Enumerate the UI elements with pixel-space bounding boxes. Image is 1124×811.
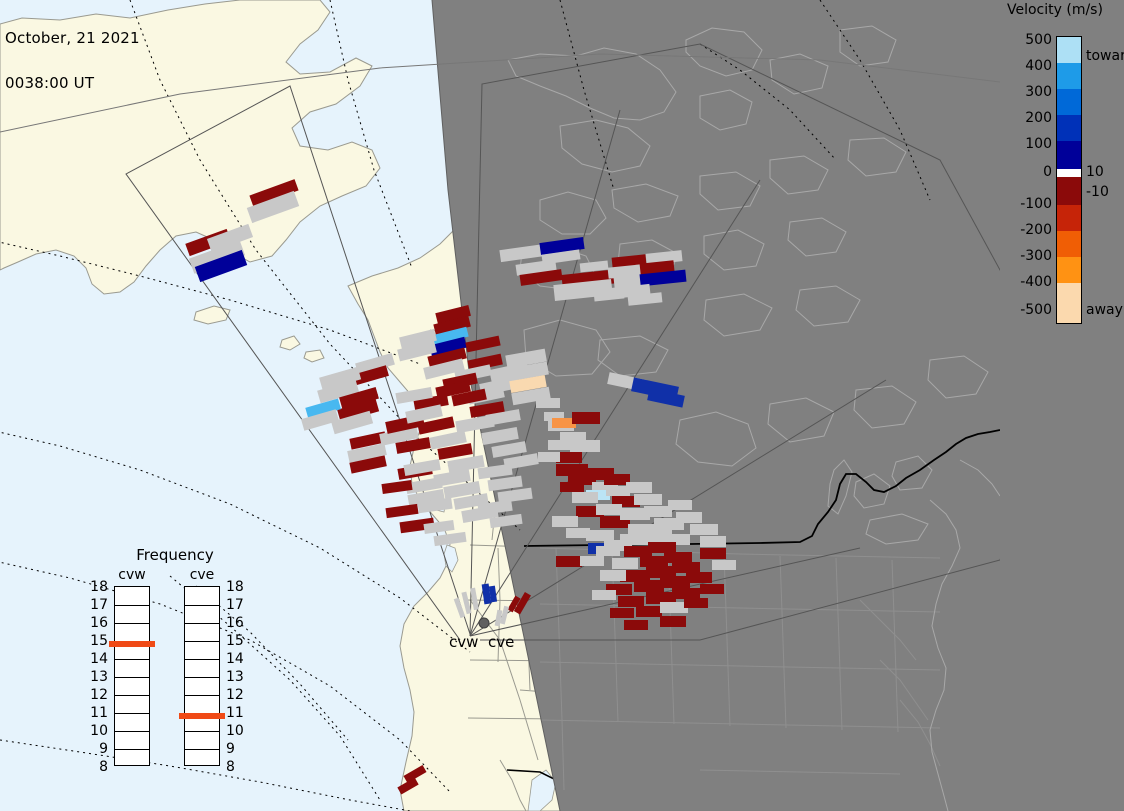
data-cell[interactable] (686, 572, 712, 583)
gauge-tick-cvw-9: 9 (84, 741, 108, 757)
timestamp: October, 21 2021 0038:00 UT (5, 1, 140, 121)
colorbar-tick-100: 100 (1025, 136, 1052, 152)
colorbar-segment-m400[interactable] (1057, 257, 1081, 283)
data-cell[interactable] (626, 482, 652, 493)
data-cell[interactable] (690, 524, 718, 535)
gauge-label-cvw: cvw (110, 567, 154, 583)
colorbar-tick-m400: -400 (1020, 274, 1052, 290)
data-cell[interactable] (572, 492, 598, 503)
gauge-tick-cve-13: 13 (226, 669, 250, 685)
data-cell[interactable] (700, 548, 726, 559)
gauge-tick-cvw-8: 8 (84, 759, 108, 775)
colorbar-segment-zero[interactable] (1057, 169, 1081, 177)
gauge-tick-cve-16: 16 (226, 615, 250, 631)
colorbar-segment-m300[interactable] (1057, 231, 1081, 257)
data-cell[interactable] (596, 546, 620, 556)
data-cell[interactable] (672, 562, 700, 573)
colorbar-threshold-negative: -10 (1086, 184, 1109, 200)
gauge-tick-cve-10: 10 (226, 723, 250, 739)
colorbar-tick-m300: -300 (1020, 248, 1052, 264)
frequency-title: Frequency (110, 546, 240, 564)
data-cell[interactable] (700, 536, 726, 547)
data-cell[interactable] (572, 412, 600, 424)
gauge-tick-cvw-17: 17 (84, 597, 108, 613)
colorbar-gradient[interactable] (1056, 36, 1082, 324)
gauge-tick-cvw-14: 14 (84, 651, 108, 667)
gauge-tick-cvw-16: 16 (84, 615, 108, 631)
data-cell[interactable] (672, 588, 700, 599)
data-cell[interactable] (556, 556, 582, 567)
data-cell[interactable] (624, 546, 652, 557)
gauge-tick-cvw-12: 12 (84, 687, 108, 703)
data-cell[interactable] (684, 598, 708, 608)
gauge-tick-cve-18: 18 (226, 579, 250, 595)
colorbar-segment-200[interactable] (1057, 115, 1081, 141)
gauge-tick-cve-14: 14 (226, 651, 250, 667)
data-cell[interactable] (586, 530, 614, 541)
colorbar-segment-400[interactable] (1057, 63, 1081, 89)
data-cell[interactable] (536, 398, 560, 408)
data-cell[interactable] (644, 506, 672, 517)
radar-site-label-cvw: cvw (449, 633, 478, 651)
gauge-tick-cve-12: 12 (226, 687, 250, 703)
data-cell[interactable] (660, 602, 688, 613)
data-cell[interactable] (660, 616, 686, 627)
gauge-tick-cve-9: 9 (226, 741, 250, 757)
data-cell[interactable] (580, 556, 604, 566)
colorbar-segment-100[interactable] (1057, 141, 1081, 169)
gauge-marker-cve (179, 713, 225, 719)
data-cell[interactable] (624, 620, 648, 630)
radar-site-marker[interactable] (479, 618, 489, 628)
colorbar-tick-0: 0 (1043, 164, 1052, 180)
gauge-marker-cvw (109, 641, 155, 647)
data-cell[interactable] (648, 542, 676, 553)
gauge-tick-cve-15: 15 (226, 633, 250, 649)
gauge-tick-cvw-18: 18 (84, 579, 108, 595)
colorbar-segment-m500[interactable] (1057, 283, 1081, 323)
gauge-tick-cve-17: 17 (226, 597, 250, 613)
colorbar-tick-m500: -500 (1020, 302, 1052, 318)
data-cell[interactable] (552, 516, 578, 527)
superdarn-fan-plot: October, 21 2021 0038:00 UT cvw cve Freq… (0, 0, 1124, 811)
radar-site-label-cve: cve (488, 633, 514, 651)
gauge-tick-cvw-13: 13 (84, 669, 108, 685)
colorbar-segment-m100[interactable] (1057, 177, 1081, 205)
data-cell[interactable] (700, 584, 724, 594)
map-panel[interactable]: October, 21 2021 0038:00 UT cvw cve Freq… (0, 0, 1000, 811)
colorbar-away-label: away (1086, 302, 1123, 318)
gauge-tick-cvw-11: 11 (84, 705, 108, 721)
colorbar-tick-m200: -200 (1020, 222, 1052, 238)
data-cell[interactable] (570, 440, 600, 452)
gauge-track-cve[interactable] (184, 586, 220, 766)
colorbar-tick-500: 500 (1025, 32, 1052, 48)
colorbar-tick-300: 300 (1025, 84, 1052, 100)
data-cell[interactable] (660, 576, 690, 588)
colorbar-segment-m200[interactable] (1057, 205, 1081, 231)
colorbar-segment-500[interactable] (1057, 37, 1081, 63)
gauge-tick-cvw-15: 15 (84, 633, 108, 649)
timestamp-date: October, 21 2021 (5, 31, 140, 46)
gauge-tick-cvw-10: 10 (84, 723, 108, 739)
data-cell[interactable] (634, 580, 664, 592)
data-cell[interactable] (560, 482, 584, 492)
data-cell[interactable] (668, 500, 692, 510)
data-cell[interactable] (712, 560, 736, 570)
velocity-colorbar-panel: Velocity (m/s) 500 400 300 200 100 0 -10… (1000, 0, 1124, 811)
data-cell[interactable] (636, 606, 662, 617)
colorbar-title: Velocity (m/s) (1007, 2, 1124, 18)
colorbar-toward-label: toward (1086, 48, 1124, 64)
data-cell[interactable] (610, 608, 634, 618)
gauge-label-cve: cve (180, 567, 224, 583)
data-cell[interactable] (592, 590, 616, 600)
data-cell[interactable] (664, 552, 692, 563)
frequency-panel: Frequency cvw 18 17 16 (92, 546, 252, 776)
gauge-track-cvw[interactable] (114, 586, 150, 766)
gauge-tick-cve-8: 8 (226, 759, 250, 775)
data-cell[interactable] (548, 440, 572, 450)
data-cell[interactable] (634, 494, 662, 505)
data-cell[interactable] (618, 596, 644, 607)
data-cell[interactable] (600, 570, 626, 581)
data-cell[interactable] (640, 556, 668, 567)
timestamp-time: 0038:00 UT (5, 76, 140, 91)
data-cell[interactable] (538, 452, 560, 462)
colorbar-tick-m100: -100 (1020, 196, 1052, 212)
data-cell[interactable] (676, 512, 702, 523)
data-cell[interactable] (596, 504, 622, 515)
gauge-tick-cve-11: 11 (226, 705, 250, 721)
colorbar-threshold-positive: 10 (1086, 164, 1104, 180)
colorbar-tick-400: 400 (1025, 58, 1052, 74)
data-cell[interactable] (612, 558, 638, 569)
colorbar-segment-300[interactable] (1057, 89, 1081, 115)
colorbar-tick-200: 200 (1025, 110, 1052, 126)
